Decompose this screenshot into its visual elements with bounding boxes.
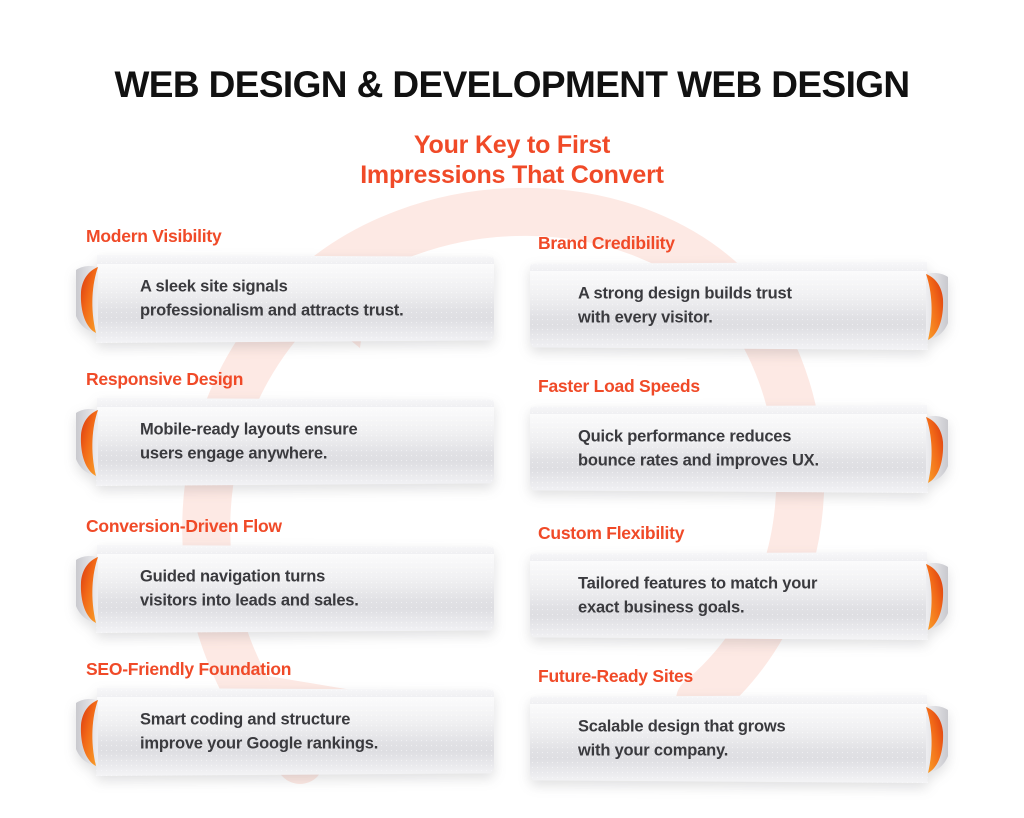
ribbon-banner: Mobile-ready layouts ensure users engage… bbox=[84, 398, 494, 486]
ribbon-banner: Quick performance reduces bounce rates a… bbox=[530, 405, 940, 493]
ribbon-banner: A sleek site signals professionalism and… bbox=[84, 255, 494, 343]
ribbon-banner: A strong design builds trust with every … bbox=[530, 262, 940, 350]
page-title: WEB DESIGN & DEVELOPMENT WEB DESIGN bbox=[0, 62, 1024, 108]
subtitle-line-2: Impressions That Convert bbox=[0, 160, 1024, 190]
card-heading: Brand Credibility bbox=[530, 233, 940, 253]
feature-card: Responsive Design Mobile-ready layouts e… bbox=[84, 369, 494, 509]
card-body-text: Smart coding and structure improve your … bbox=[140, 709, 474, 756]
card-heading: Future-Ready Sites bbox=[530, 666, 940, 686]
folded-corner-icon bbox=[914, 271, 948, 343]
feature-card: Modern Visibility bbox=[84, 226, 494, 362]
folded-corner-icon bbox=[76, 697, 110, 769]
infographic-poster: WEB DESIGN & DEVELOPMENT WEB DESIGN Your… bbox=[0, 0, 1024, 818]
feature-card: SEO-Friendly Foundation Smart coding and… bbox=[84, 659, 494, 795]
card-body-text: Mobile-ready layouts ensure users engage… bbox=[140, 419, 474, 466]
card-body-text: A sleek site signals professionalism and… bbox=[140, 276, 474, 323]
card-body-text: A strong design builds trust with every … bbox=[578, 283, 880, 330]
feature-card: Faster Load Speeds Quick performance red… bbox=[530, 376, 940, 516]
folded-corner-icon bbox=[914, 561, 948, 633]
folded-corner-icon bbox=[914, 414, 948, 486]
feature-card: Brand Credibility bbox=[530, 233, 940, 369]
feature-card: Future-Ready Sites Scalable design that … bbox=[530, 666, 940, 802]
folded-corner-icon bbox=[76, 554, 110, 626]
card-heading: Responsive Design bbox=[84, 369, 494, 389]
page-subtitle: Your Key to First Impressions That Conve… bbox=[0, 130, 1024, 190]
card-heading: Conversion-Driven Flow bbox=[84, 516, 494, 536]
card-body-text: Scalable design that grows with your com… bbox=[578, 716, 880, 763]
ribbon-banner: Guided navigation turns visitors into le… bbox=[84, 545, 494, 633]
card-heading: Custom Flexibility bbox=[530, 523, 940, 543]
poster-header: WEB DESIGN & DEVELOPMENT WEB DESIGN Your… bbox=[0, 0, 1024, 190]
card-body-text: Tailored features to match your exact bu… bbox=[578, 573, 880, 620]
card-body-text: Guided navigation turns visitors into le… bbox=[140, 566, 474, 613]
card-heading: Faster Load Speeds bbox=[530, 376, 940, 396]
feature-card: Conversion-Driven Flow Guided navigation… bbox=[84, 516, 494, 652]
subtitle-line-1: Your Key to First bbox=[0, 130, 1024, 160]
ribbon-banner: Scalable design that grows with your com… bbox=[530, 695, 940, 783]
feature-card: Custom Flexibility Tailored features to … bbox=[530, 523, 940, 659]
ribbon-banner: Tailored features to match your exact bu… bbox=[530, 552, 940, 640]
folded-corner-icon bbox=[76, 407, 110, 479]
card-body-text: Quick performance reduces bounce rates a… bbox=[578, 426, 880, 473]
ribbon-banner: Smart coding and structure improve your … bbox=[84, 688, 494, 776]
card-heading: SEO-Friendly Foundation bbox=[84, 659, 494, 679]
feature-card-grid: Modern Visibility bbox=[0, 226, 1024, 802]
folded-corner-icon bbox=[76, 264, 110, 336]
card-heading: Modern Visibility bbox=[84, 226, 494, 246]
folded-corner-icon bbox=[914, 704, 948, 776]
